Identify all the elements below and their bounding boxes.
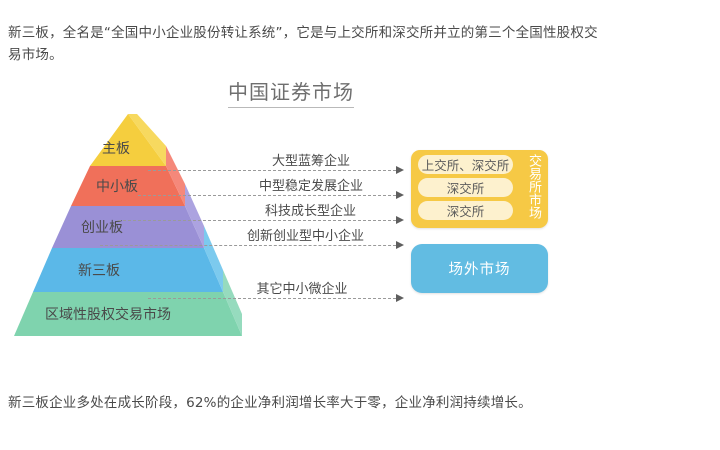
diagram-title: 中国证券市场 — [228, 76, 354, 108]
connector-label-4: 其它中小微企业 — [242, 278, 362, 297]
pyramid-label-zhuban: 主板 — [90, 138, 142, 158]
connector-label-2: 科技成长型企业 — [244, 200, 377, 219]
outro-paragraph: 新三板企业多处在成长阶段，62%的企业净利润增长率大于零，企业净利润持续增长。 — [8, 392, 608, 414]
exchange-market-vertical-label: 交易所市场 — [520, 154, 540, 219]
pyramid-label-xinsanban: 新三板 — [64, 260, 134, 280]
otc-market-box: 场外市场 — [411, 244, 548, 293]
exchange-market-panel: 上交所、深交所 深交所 深交所 交易所市场 — [411, 150, 548, 228]
connector-arrow-3 — [396, 241, 404, 249]
connector-label-3: 创新创业型中小企业 — [226, 225, 385, 244]
exchange-pill-1: 深交所 — [418, 178, 513, 197]
connector-dash-2 — [118, 220, 396, 221]
connector-arrow-4 — [396, 294, 404, 302]
exchange-pill-0: 上交所、深交所 — [418, 155, 513, 174]
connector-dash-3 — [100, 245, 396, 246]
connector-label-0: 大型蓝筹企业 — [251, 150, 371, 169]
pyramid-label-zhongxiaoban: 中小板 — [82, 176, 152, 196]
exchange-pill-2: 深交所 — [418, 201, 513, 220]
market-tier-pyramid: 主板 中小板 创业板 新三板 区域性股权交易市场 — [14, 114, 242, 336]
connector-dash-4 — [148, 298, 396, 299]
intro-paragraph: 新三板，全名是“全国中小企业股份转让系统”，它是与上交所和深交所并立的第三个全国… — [8, 22, 608, 66]
connector-arrow-1 — [396, 191, 404, 199]
connector-label-1: 中型稳定发展企业 — [238, 175, 384, 194]
connector-arrow-2 — [396, 216, 404, 224]
connector-arrow-0 — [396, 166, 404, 174]
connector-dash-0 — [148, 170, 396, 171]
pyramid-label-regional: 区域性股权交易市场 — [23, 304, 193, 324]
connector-dash-1 — [138, 195, 396, 196]
china-securities-market-diagram: 中国证券市场 — [0, 62, 720, 362]
